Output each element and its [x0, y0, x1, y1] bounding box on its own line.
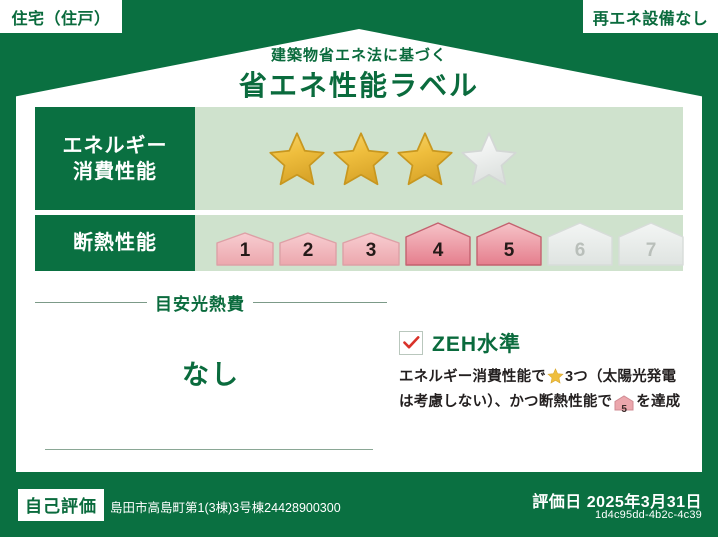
insulation-grade-1: 1 — [215, 231, 275, 267]
zeh-desc-part3: を達成 — [636, 394, 680, 410]
zeh-title-row: ZEH水準 — [399, 328, 683, 358]
insulation-grade-5: 5 — [475, 221, 543, 267]
energy-performance-row: エネルギー 消費性能 — [35, 107, 683, 210]
insulation-grade-2: 2 — [278, 231, 338, 267]
insulation-grade-number: 1 — [215, 240, 275, 262]
insulation-performance-label-text: 断熱性能 — [73, 230, 157, 256]
inline-house-icon: 5 — [614, 395, 634, 418]
zeh-description: エネルギー消費性能で 3つ（太陽光発電は考慮しない）、かつ断熱性能で 5 を達成 — [399, 366, 683, 419]
cost-bottom-divider — [45, 449, 373, 450]
insulation-performance-row: 断熱性能 1234567 — [35, 215, 683, 271]
zeh-checkbox[interactable] — [399, 331, 423, 355]
zeh-desc-part1: エネルギー消費性能で — [399, 369, 546, 385]
zeh-title: ZEH水準 — [432, 328, 521, 358]
insulation-grade-number: 6 — [546, 240, 614, 262]
insulation-grade-number: 7 — [617, 240, 685, 262]
heading-rule-left — [35, 302, 147, 303]
energy-performance-label: 住宅（住戸） 再エネ設備なし 建築物省エネ法に基づく 省エネ性能ラベル エネルギ… — [0, 0, 718, 537]
insulation-grade-7: 7 — [617, 221, 685, 267]
star-filled-icon — [267, 130, 327, 188]
self-evaluation-badge: 自己評価 — [18, 489, 104, 521]
estimated-utility-cost-block: 目安光熱費 なし — [35, 284, 387, 459]
energy-performance-label-line1: エネルギー — [63, 133, 168, 159]
insulation-grade-scale-wrap: 1234567 — [195, 215, 688, 271]
energy-performance-label: エネルギー 消費性能 — [35, 107, 195, 210]
title-main: 省エネ性能ラベル — [16, 68, 702, 103]
card-title-block: 建築物省エネ法に基づく 省エネ性能ラベル — [16, 47, 702, 103]
star-filled-icon — [331, 130, 391, 188]
insulation-grade-number: 2 — [278, 240, 338, 262]
evaluation-uuid: 1d4c95dd-4b2c-4c39 — [595, 509, 702, 521]
insulation-grade-number: 3 — [341, 240, 401, 262]
insulation-grade-scale: 1234567 — [215, 219, 688, 267]
property-address: 島田市高島町第1(3棟)3号棟24428900300 — [110, 497, 341, 516]
insulation-grade-number: 5 — [475, 240, 543, 262]
insulation-grade-6: 6 — [546, 221, 614, 267]
estimated-utility-cost-heading: 目安光熱費 — [35, 284, 387, 315]
label-footer: 自己評価 島田市高島町第1(3棟)3号棟24428900300 評価日 2025… — [0, 472, 718, 537]
label-card: 建築物省エネ法に基づく 省エネ性能ラベル エネルギー 消費性能 断熱性能 123… — [16, 29, 702, 472]
badge-building-type: 住宅（住戸） — [0, 0, 122, 33]
estimated-utility-cost-value: なし — [35, 353, 387, 392]
lower-section: 目安光熱費 なし ZEH水準 エネルギー消費性能で — [35, 284, 683, 459]
zeh-standard-block: ZEH水準 エネルギー消費性能で 3つ（太陽光発電は考慮しない）、かつ断熱性能で… — [387, 284, 683, 459]
check-icon — [403, 336, 420, 350]
star-filled-icon — [395, 130, 455, 188]
energy-star-rating — [195, 107, 683, 210]
zeh-desc-star-count: 3つ（太陽光発電 — [565, 369, 676, 385]
badge-building-type-text: 住宅（住戸） — [11, 5, 110, 29]
insulation-grade-number: 4 — [404, 240, 472, 262]
insulation-performance-label: 断熱性能 — [35, 215, 195, 271]
inline-house-number: 5 — [614, 402, 634, 418]
insulation-grade-4: 4 — [404, 221, 472, 267]
title-subtitle: 建築物省エネ法に基づく — [16, 47, 702, 65]
estimated-utility-cost-heading-text: 目安光熱費 — [155, 290, 245, 315]
badge-renewable-energy: 再エネ設備なし — [583, 0, 718, 33]
badge-renewable-energy-text: 再エネ設備なし — [593, 5, 709, 29]
star-empty-icon — [459, 130, 519, 188]
inline-star-icon — [547, 368, 564, 391]
heading-rule-right — [253, 302, 387, 303]
insulation-grade-3: 3 — [341, 231, 401, 267]
zeh-desc-part2: は考慮しない）、かつ断熱性能で — [399, 394, 612, 410]
energy-performance-label-line2: 消費性能 — [73, 159, 157, 185]
